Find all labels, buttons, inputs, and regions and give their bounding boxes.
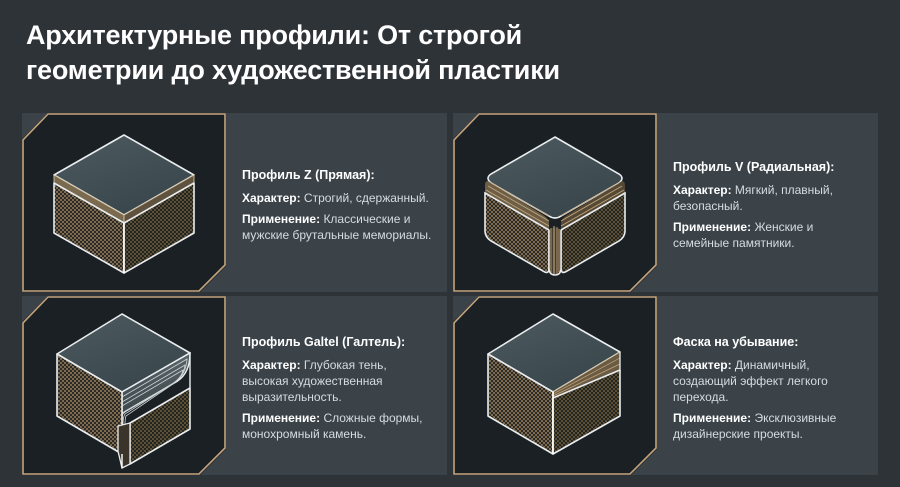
line-label: Характер: [673,183,732,197]
card-line-application: Применение: Сложные формы, монохромный к… [242,411,433,443]
profile-card-z[interactable]: Профиль Z (Прямая): Характер: Строгий, с… [22,113,447,292]
line-label: Применение: [242,212,320,226]
card-text-galtel: Профиль Galtel (Галтель): Характер: Глуб… [226,296,447,475]
illustration-panel-z [22,113,226,292]
illustration-panel-v [453,113,657,292]
line-label: Характер: [242,358,301,372]
card-line-character: Характер: Строгий, сдержанный. [242,191,433,207]
isometric-cube-straight-edge-icon [22,113,226,292]
profile-cards-grid: Профиль Z (Прямая): Характер: Строгий, с… [22,113,878,475]
card-line-application: Применение: Женские и семейные памятники… [673,220,864,252]
card-line-application: Применение: Классические и мужские брута… [242,212,433,244]
illustration-panel-chamfer [453,296,657,475]
line-value: Строгий, сдержанный. [301,191,429,205]
isometric-cube-radial-edge-icon [453,113,657,292]
profile-card-v[interactable]: Профиль V (Радиальная): Характер: Мягкий… [453,113,878,292]
line-label: Применение: [673,411,751,425]
illustration-panel-galtel [22,296,226,475]
profile-card-chamfer[interactable]: Фаска на убывание: Характер: Динамичный,… [453,296,878,475]
card-heading: Профиль Z (Прямая): [242,167,433,183]
card-line-application: Применение: Эксклюзивные дизайнерские пр… [673,411,864,443]
line-label: Характер: [673,358,732,372]
isometric-cube-cove-galtel-icon [22,296,226,475]
card-line-character: Характер: Мягкий, плавный, безопасный. [673,183,864,215]
card-heading: Профиль V (Радиальная): [673,159,864,175]
card-text-v: Профиль V (Радиальная): Характер: Мягкий… [657,113,878,292]
card-text-z: Профиль Z (Прямая): Характер: Строгий, с… [226,113,447,292]
card-line-character: Характер: Глубокая тень, высокая художес… [242,358,433,406]
card-text-chamfer: Фаска на убывание: Характер: Динамичный,… [657,296,878,475]
line-label: Применение: [242,411,320,425]
isometric-cube-tapering-chamfer-icon [453,296,657,475]
line-label: Применение: [673,220,751,234]
line-label: Характер: [242,191,301,205]
profile-card-galtel[interactable]: Профиль Galtel (Галтель): Характер: Глуб… [22,296,447,475]
card-line-character: Характер: Динамичный, создающий эффект л… [673,358,864,406]
card-heading: Профиль Galtel (Галтель): [242,334,433,350]
page-title: Архитектурные профили: От строгой геомет… [26,18,786,87]
card-heading: Фаска на убывание: [673,334,864,350]
